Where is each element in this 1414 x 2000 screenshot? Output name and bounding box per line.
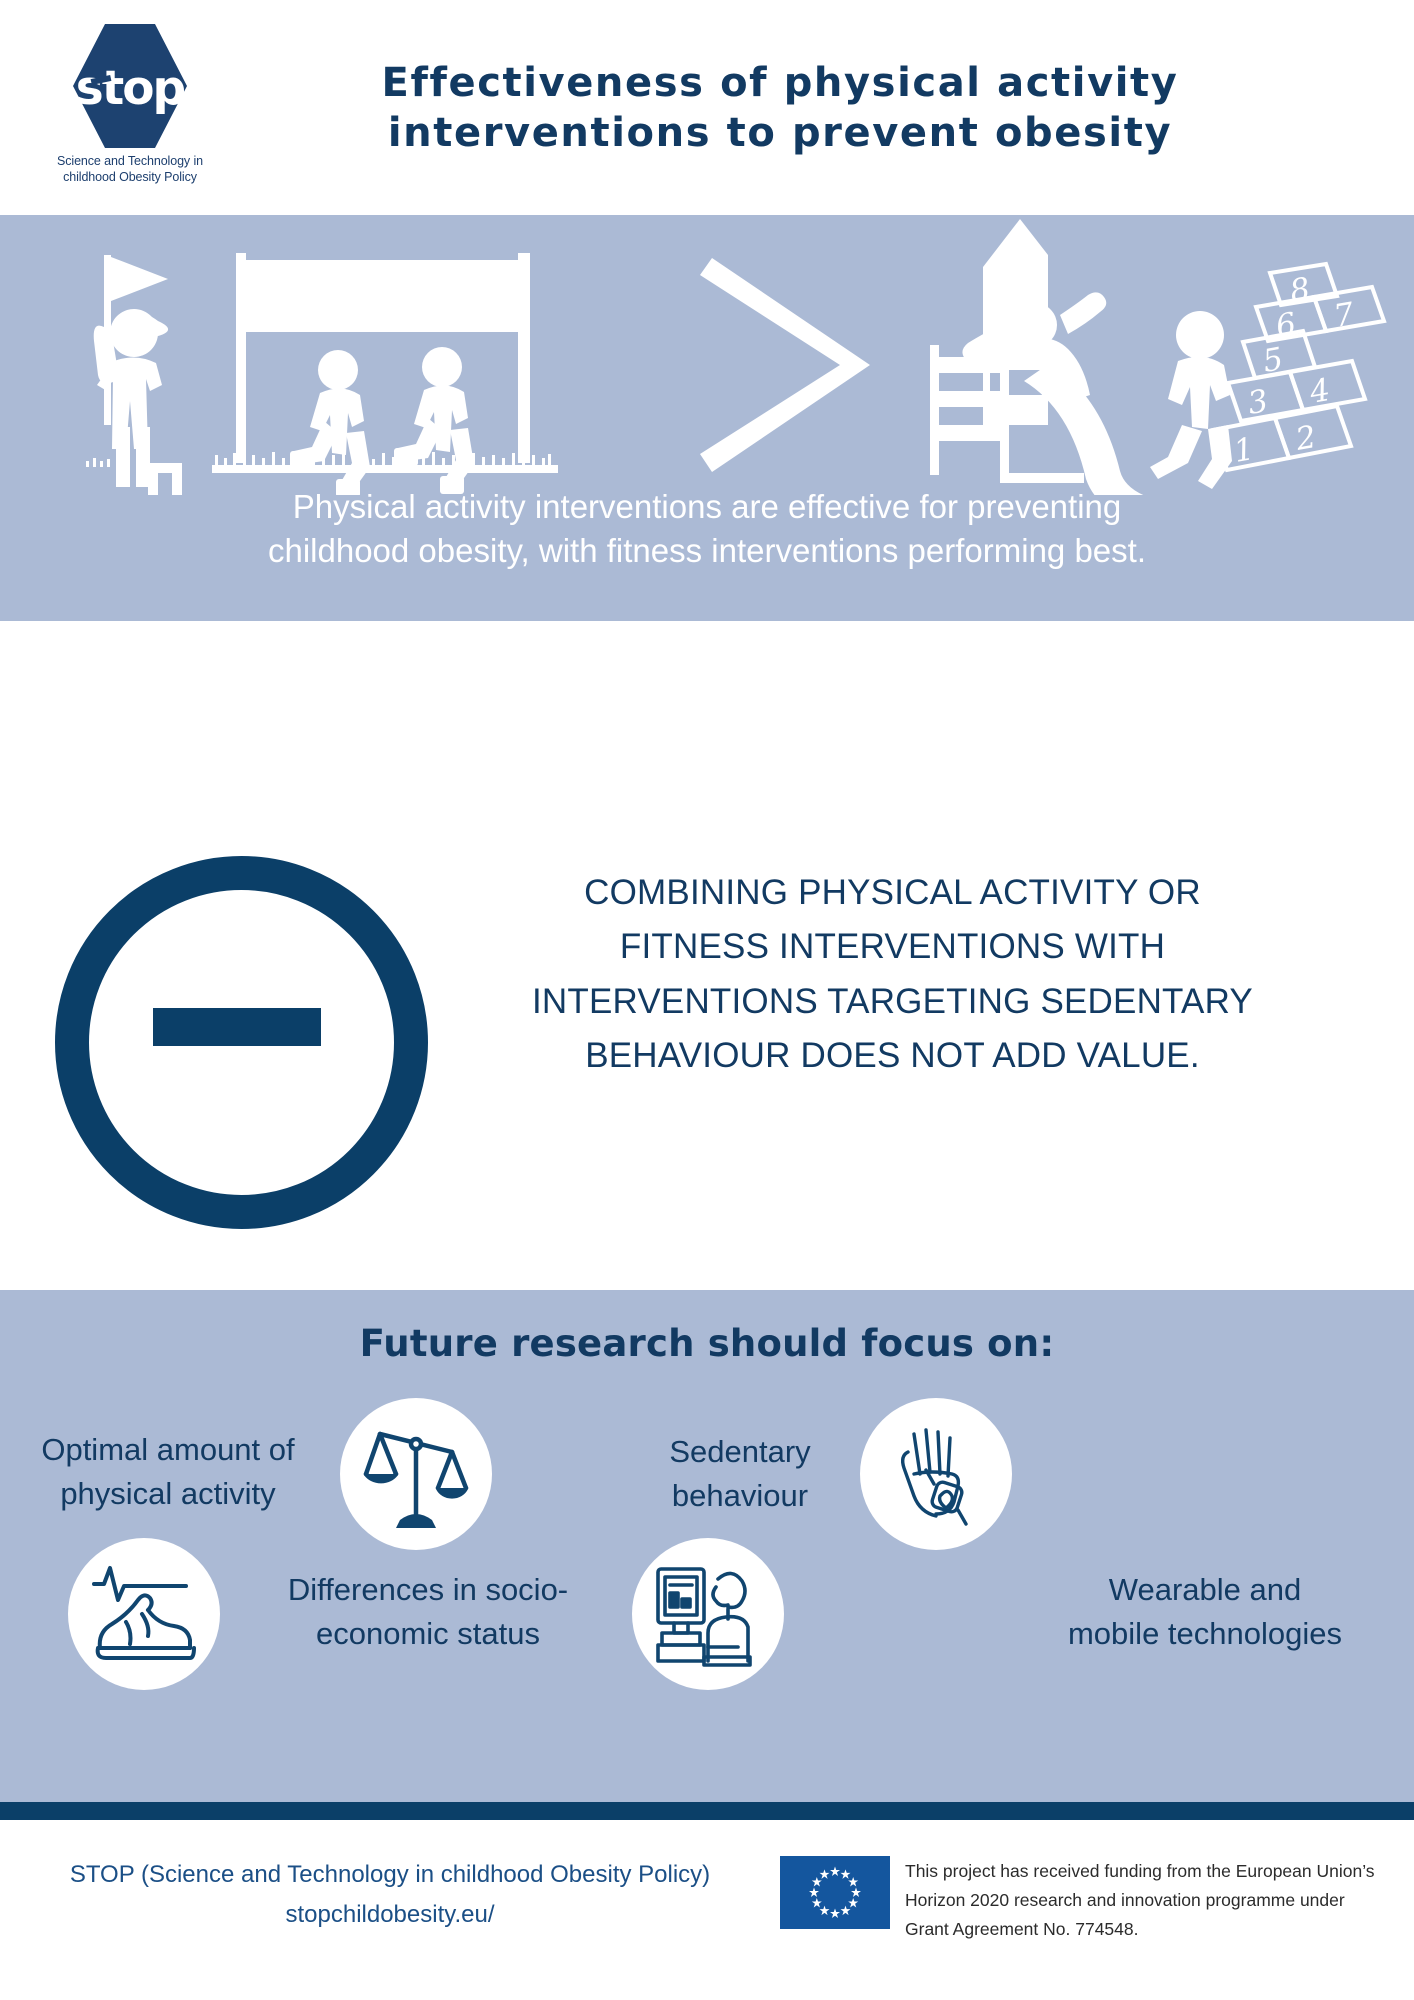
fr-label-line2: economic status [228,1612,628,1656]
balance-scale-icon [340,1398,492,1550]
key-finding-statement: COMBINING PHYSICAL ACTIVITY OR FITNESS I… [400,866,1385,1083]
page-title-line2: interventions to prevent obesity [225,108,1335,158]
running-shoe-heartbeat-icon [68,1538,220,1690]
stop-logo: stop Science and Technology in childhood… [50,22,210,197]
svg-text:3: 3 [1245,383,1271,422]
future-research-item-socioeconomic: Differences in socio- economic status [228,1568,628,1656]
svg-text:stop: stop [76,61,185,116]
band-caption: Physical activity interventions are effe… [60,485,1354,573]
statement-line4: BEHAVIOUR DOES NOT ADD VALUE. [400,1029,1385,1083]
infographic-page: stop Science and Technology in childhood… [0,0,1414,2000]
statement-line2: FITNESS INTERVENTIONS WITH [400,920,1385,974]
section-divider-bar [0,1802,1414,1820]
minus-bar [153,1008,321,1046]
footer: STOP (Science and Technology in childhoo… [0,1820,1414,2000]
fr-label-line1: Optimal amount of [8,1428,328,1472]
person-at-desk-computer-icon [632,1538,784,1690]
future-research-section: Future research should focus on: Optimal… [0,1290,1414,1820]
svg-text:5: 5 [1260,341,1286,380]
key-finding-section: COMBINING PHYSICAL ACTIVITY OR FITNESS I… [0,621,1414,1290]
statement-line3: INTERVENTIONS TARGETING SEDENTARY [400,975,1385,1029]
shoe-circle [68,1538,220,1690]
logo-caption-line2: childhood Obesity Policy [57,170,203,186]
header: stop Science and Technology in childhood… [0,0,1414,215]
svg-text:1: 1 [1231,431,1257,470]
balance-scale-circle [340,1398,492,1550]
funding-line2: Horizon 2020 research and innovation pro… [905,1886,1385,1915]
stop-hexagon-icon: stop [71,22,189,150]
future-research-item-optimal-amount: Optimal amount of physical activity [8,1428,328,1516]
footer-project-info: STOP (Science and Technology in childhoo… [40,1855,740,1934]
band-caption-line2: childhood obesity, with fitness interven… [60,529,1354,573]
fr-label-line2: physical activity [8,1472,328,1516]
fr-label-line1: Differences in socio- [228,1568,628,1612]
band-caption-line1: Physical activity interventions are effe… [60,485,1354,529]
minus-in-circle-icon [55,856,400,1201]
fr-label-line1: Wearable and [1000,1568,1410,1612]
logo-caption-line1: Science and Technology in [57,154,203,170]
page-title-line1: Effectiveness of physical activity [225,58,1335,108]
logo-caption: Science and Technology in childhood Obes… [57,154,203,185]
funding-line1: This project has received funding from t… [905,1857,1385,1886]
fr-label-line2: mobile technologies [1000,1612,1410,1656]
hand-with-smartwatch-icon [860,1398,1012,1550]
footer-project-name: STOP (Science and Technology in childhoo… [40,1855,740,1895]
physical-activity-illustration: 1 2 3 4 5 6 7 8 [0,215,1414,495]
european-union-flag-icon [780,1856,890,1929]
svg-text:4: 4 [1306,372,1333,411]
future-research-title: Future research should focus on: [0,1322,1414,1365]
top-illustration-band: 1 2 3 4 5 6 7 8 Physical activity interv… [0,215,1414,621]
footer-website-link[interactable]: stopchildobesity.eu/ [40,1895,740,1935]
footer-funding-statement: This project has received funding from t… [905,1857,1385,1944]
wearable-circle [860,1398,1012,1550]
future-research-item-sedentary: Sedentary behaviour [580,1430,900,1518]
svg-text:2: 2 [1292,419,1319,458]
future-research-item-wearable: Wearable and mobile technologies [1000,1568,1410,1656]
funding-line3: Grant Agreement No. 774548. [905,1915,1385,1944]
fr-label-line1: Sedentary [580,1430,900,1474]
statement-line1: COMBINING PHYSICAL ACTIVITY OR [400,866,1385,920]
fr-label-line2: behaviour [580,1474,900,1518]
desk-circle [632,1538,784,1690]
page-title: Effectiveness of physical activity inter… [225,58,1335,159]
